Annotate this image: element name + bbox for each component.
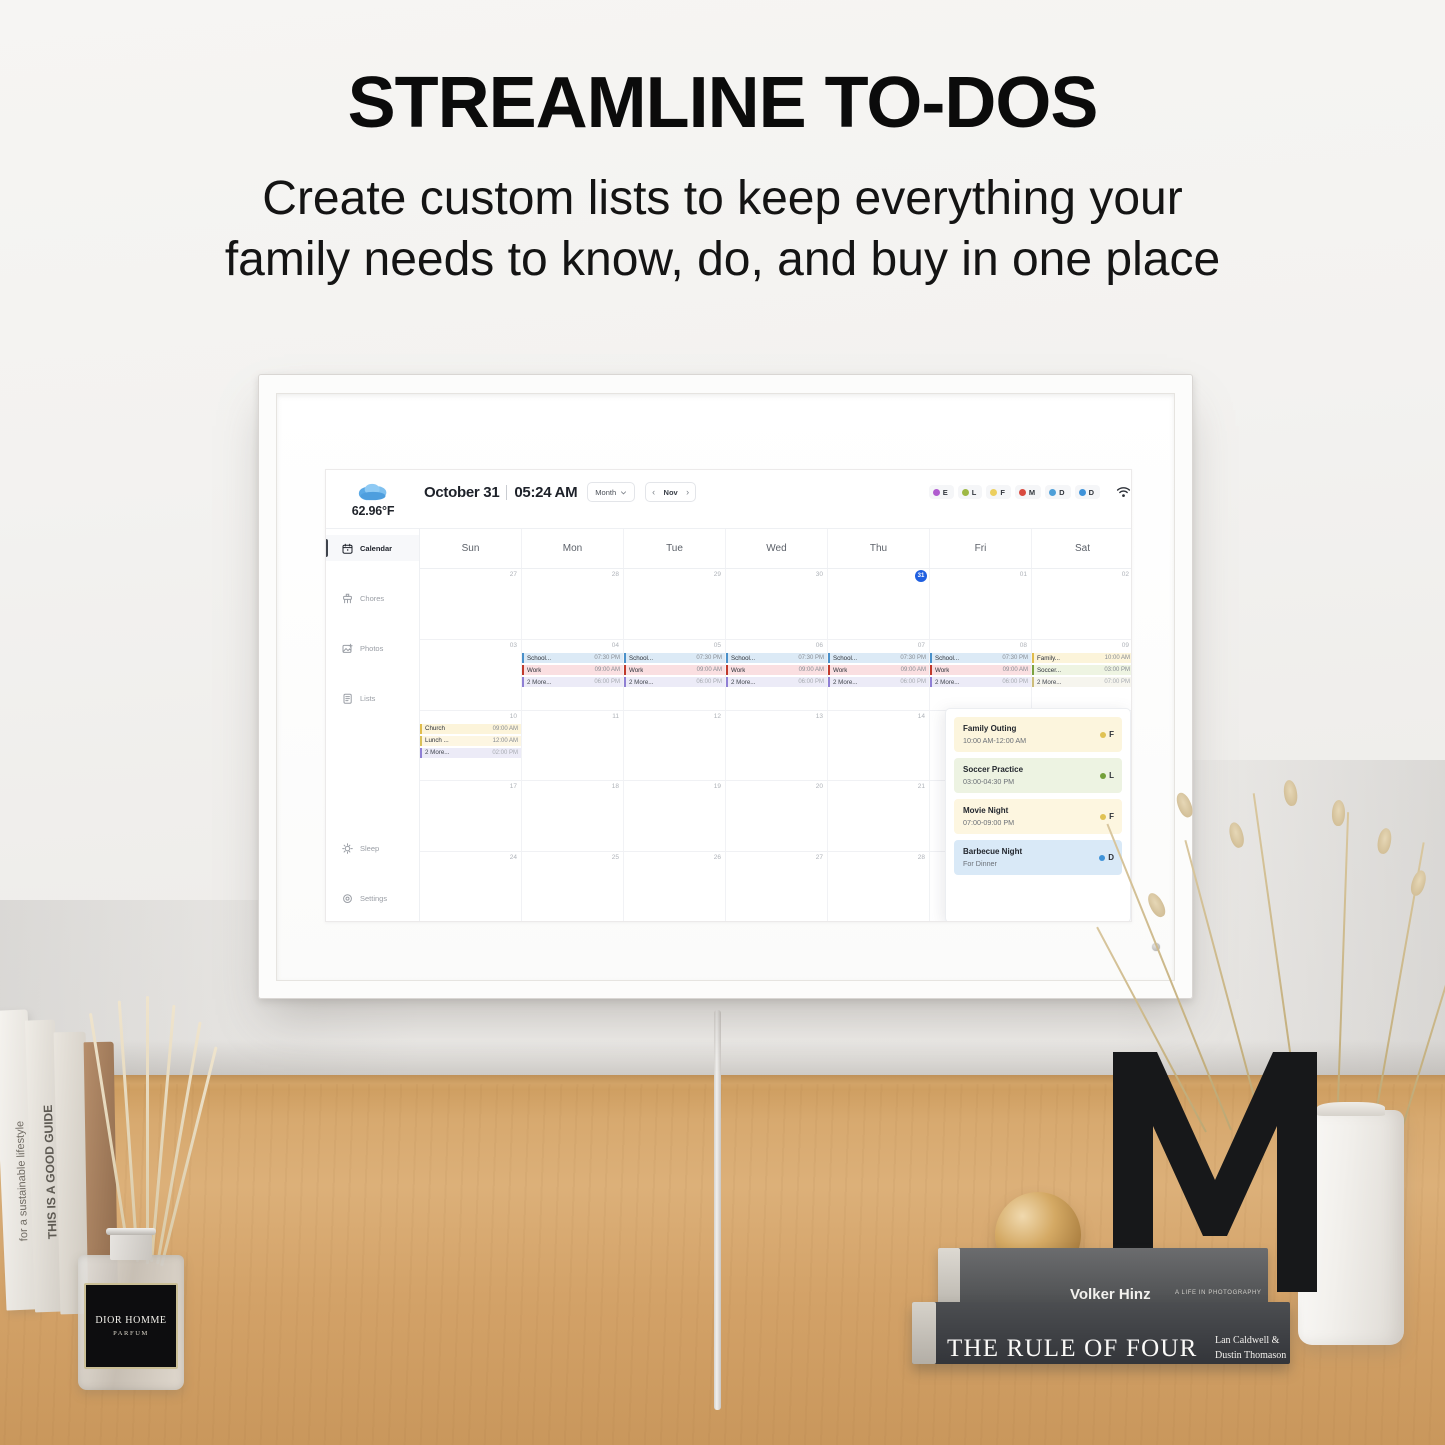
member-chip-f-2[interactable]: F <box>986 485 1011 499</box>
day-number: 21 <box>918 783 925 790</box>
sidebar-item-label: Photos <box>360 644 383 653</box>
day-number: 28 <box>612 571 619 578</box>
subline-2: family needs to know, do, and buy in one… <box>0 229 1445 290</box>
calendar-day-cell[interactable]: 03 <box>420 640 522 710</box>
event-time: 12:00 AM <box>493 738 518 744</box>
event-title: Work <box>726 667 745 674</box>
marketing-subheadline: Create custom lists to keep everything y… <box>0 168 1445 291</box>
current-month-label: Nov <box>662 488 679 497</box>
popup-event-time: For Dinner <box>963 859 1022 868</box>
more-events-link[interactable]: 2 More...06:00 PM <box>522 677 623 688</box>
reed-stick <box>146 996 149 1264</box>
book-volker-hinz-subtitle: A LIFE IN PHOTOGRAPHY <box>1175 1290 1262 1296</box>
book-rule-of-four-author-1: Lan Caldwell & <box>1215 1335 1279 1346</box>
day-number: 19 <box>714 783 721 790</box>
member-initial: F <box>1109 730 1114 739</box>
prev-month-button[interactable]: ‹ <box>652 488 655 497</box>
event-time: 09:00 AM <box>595 667 620 673</box>
member-initial: F <box>1109 812 1114 821</box>
book-rule-of-four-title: THE RULE OF FOUR <box>947 1335 1197 1363</box>
day-header-fri: Fri <box>930 529 1032 568</box>
book-pages-edge <box>938 1248 960 1304</box>
app-sidebar: CalendarChoresPhotosListsSleepSettings <box>326 529 420 922</box>
event-time: 06:00 PM <box>900 679 926 685</box>
day-header-sun: Sun <box>420 529 522 568</box>
next-month-button[interactable]: › <box>686 488 689 497</box>
sleep-icon <box>342 843 353 854</box>
day-header-sat: Sat <box>1032 529 1132 568</box>
calendar-day-cell[interactable]: 27 <box>726 852 828 922</box>
popup-event-item[interactable]: Family Outing10:00 AM-12:00 AMF <box>954 717 1122 752</box>
view-selector-label: Month <box>595 488 616 497</box>
popup-event-title: Family Outing <box>963 724 1026 733</box>
sidebar-item-label: Chores <box>360 594 384 603</box>
settings-icon <box>342 893 353 904</box>
calendar-day-cell[interactable]: 28 <box>828 852 930 922</box>
day-number: 18 <box>612 783 619 790</box>
event-title: 2 More... <box>522 679 551 686</box>
calendar-day-cell[interactable]: 17 <box>420 781 522 851</box>
date-time-block: October 31 05:24 AM <box>424 484 577 501</box>
event-color-bar <box>1032 665 1034 676</box>
more-events-link[interactable]: 2 More...02:00 PM <box>420 748 521 759</box>
event-title: School... <box>930 655 959 662</box>
calendar-day-cell[interactable]: 31 <box>828 569 930 639</box>
calendar-day-cell[interactable]: 12 <box>624 711 726 781</box>
event-title: Work <box>522 667 541 674</box>
event-color-bar <box>828 653 830 664</box>
event-title: Work <box>828 667 847 674</box>
popup-event-member: D <box>1099 853 1114 862</box>
member-initial: D <box>1089 488 1094 497</box>
day-number: 25 <box>612 854 619 861</box>
event-color-bar <box>726 677 728 688</box>
weather-widget[interactable]: 62.96°F <box>326 470 420 529</box>
temperature-value: 62.96°F <box>352 504 395 518</box>
event-title: 2 More... <box>726 679 755 686</box>
calendar-event[interactable]: Work09:00 AM <box>726 665 827 676</box>
popup-event-text: Barbecue NightFor Dinner <box>963 847 1022 868</box>
calendar-day-cell[interactable]: 27 <box>420 569 522 639</box>
sidebar-item-label: Lists <box>360 694 375 703</box>
sidebar-item-sleep[interactable]: Sleep <box>326 835 419 861</box>
calendar-event[interactable]: Work09:00 AM <box>930 665 1031 676</box>
calendar-day-cell[interactable]: 13 <box>726 711 828 781</box>
diffuser-subtitle: PARFUM <box>113 1330 149 1337</box>
calendar-day-cell[interactable]: 18 <box>522 781 624 851</box>
calendar-event[interactable]: Lunch ...12:00 AM <box>420 736 521 747</box>
day-number: 14 <box>918 713 925 720</box>
day-number: 10 <box>510 713 517 720</box>
member-initial: F <box>1000 488 1005 497</box>
popup-event-time: 10:00 AM-12:00 AM <box>963 736 1026 745</box>
sidebar-item-label: Settings <box>360 894 387 903</box>
power-cable <box>714 1010 721 1410</box>
event-color-bar <box>828 677 830 688</box>
event-title: Work <box>930 667 949 674</box>
day-number: 02 <box>1122 571 1129 578</box>
calendar-day-cell[interactable]: 04School...07:30 PMWork09:00 AM2 More...… <box>522 640 624 710</box>
event-color-bar <box>624 653 626 664</box>
diffuser-collar <box>106 1228 156 1235</box>
day-number: 12 <box>714 713 721 720</box>
calendar-day-cell[interactable]: 25 <box>522 852 624 922</box>
topbar-controls: October 31 05:24 AM Month ‹ Nov › ELFMDD <box>420 470 1132 514</box>
day-header-wed: Wed <box>726 529 828 568</box>
chores-icon <box>342 593 353 604</box>
event-color-bar <box>522 665 524 676</box>
event-color-bar <box>420 724 422 735</box>
event-time: 06:00 PM <box>696 679 722 685</box>
day-number: 07 <box>918 642 925 649</box>
event-details-popup: Family Outing10:00 AM-12:00 AMFSoccer Pr… <box>945 708 1131 922</box>
popup-event-time: 03:00-04:30 PM <box>963 777 1023 786</box>
member-chip-d-5[interactable]: D <box>1075 485 1100 499</box>
member-chip-m-3[interactable]: M <box>1015 485 1041 499</box>
sidebar-item-chores[interactable]: Chores <box>326 585 419 611</box>
today-date-badge: 31 <box>915 570 927 582</box>
event-title: 2 More... <box>624 679 653 686</box>
day-number: 01 <box>1020 571 1027 578</box>
calendar-day-cell[interactable]: 28 <box>522 569 624 639</box>
event-title: Soccer... <box>1032 667 1061 674</box>
diffuser-label: DIOR HOMME PARFUM <box>84 1283 178 1369</box>
member-color-dot <box>1019 489 1026 496</box>
event-color-bar <box>1032 653 1034 664</box>
calendar-day-cell[interactable]: 06School...07:30 PMWork09:00 AM2 More...… <box>726 640 828 710</box>
day-number: 26 <box>714 854 721 861</box>
book-volker-hinz-title: Volker Hinz <box>1070 1286 1151 1303</box>
member-chip-d-4[interactable]: D <box>1045 485 1070 499</box>
sidebar-item-lists[interactable]: Lists <box>326 685 419 711</box>
event-title: 2 More... <box>1032 679 1061 686</box>
event-title: Family... <box>1032 655 1060 662</box>
calendar-day-cell[interactable]: 14 <box>828 711 930 781</box>
calendar-day-cell[interactable]: 09Family...10:00 AMSoccer...03:00 PM2 Mo… <box>1032 640 1132 710</box>
calendar-day-cell[interactable]: 07School...07:30 PMWork09:00 AM2 More...… <box>828 640 930 710</box>
popup-event-title: Movie Night <box>963 806 1014 815</box>
member-color-dot <box>1100 732 1106 738</box>
calendar-event[interactable]: School...07:30 PM <box>828 653 929 664</box>
calendar-day-cell[interactable]: 08School...07:30 PMWork09:00 AM2 More...… <box>930 640 1032 710</box>
event-time: 07:30 PM <box>696 655 722 661</box>
divider <box>506 485 507 500</box>
member-chip-e-0[interactable]: E <box>929 485 954 499</box>
member-color-dot <box>1079 489 1086 496</box>
event-color-bar <box>726 653 728 664</box>
event-time: 07:30 PM <box>594 655 620 661</box>
event-time: 07:30 PM <box>1002 655 1028 661</box>
day-event-list: School...07:30 PMWork09:00 AM2 More...06… <box>828 653 929 688</box>
event-color-bar <box>624 677 626 688</box>
event-color-bar <box>930 665 932 676</box>
diffuser-neck <box>110 1232 152 1260</box>
calendar-day-cell[interactable]: 05School...07:30 PMWork09:00 AM2 More...… <box>624 640 726 710</box>
day-number: 20 <box>816 783 823 790</box>
event-time: 09:00 AM <box>901 667 926 673</box>
event-title: 2 More... <box>930 679 959 686</box>
sidebar-item-label: Sleep <box>360 844 379 853</box>
day-header-tue: Tue <box>624 529 726 568</box>
day-number: 05 <box>714 642 721 649</box>
event-time: 07:30 PM <box>900 655 926 661</box>
app-topbar: 62.96°F October 31 05:24 AM Month ‹ Nov … <box>326 470 1132 529</box>
event-title: Church <box>420 725 445 732</box>
popup-event-time: 07:00-09:00 PM <box>963 818 1014 827</box>
day-number: 29 <box>714 571 721 578</box>
event-time: 07:30 PM <box>798 655 824 661</box>
day-number: 13 <box>816 713 823 720</box>
member-chip-list: ELFMDD <box>929 485 1102 499</box>
lists-icon <box>342 693 353 704</box>
member-chip-l-1[interactable]: L <box>958 485 983 499</box>
event-title: School... <box>624 655 653 662</box>
event-color-bar <box>930 677 932 688</box>
calendar-event[interactable]: Work09:00 AM <box>522 665 623 676</box>
member-initial: E <box>943 488 948 497</box>
day-number: 27 <box>816 854 823 861</box>
event-title: Work <box>624 667 643 674</box>
photos-icon <box>342 643 353 654</box>
calendar-day-cell[interactable]: 01 <box>930 569 1032 639</box>
more-events-link[interactable]: 2 More...06:00 PM <box>930 677 1031 688</box>
headline-text: STREAMLINE TO-DOS <box>0 62 1445 144</box>
event-color-bar <box>420 748 422 759</box>
calendar-event[interactable]: Work09:00 AM <box>828 665 929 676</box>
popup-event-member: F <box>1100 812 1114 821</box>
calendar-day-cell[interactable]: 21 <box>828 781 930 851</box>
calendar-day-cell[interactable]: 02 <box>1032 569 1132 639</box>
member-color-dot <box>990 489 997 496</box>
more-events-link[interactable]: 2 More...06:00 PM <box>624 677 725 688</box>
calendar-day-cell[interactable]: 20 <box>726 781 828 851</box>
day-event-list: School...07:30 PMWork09:00 AM2 More...06… <box>522 653 623 688</box>
calendar-event[interactable]: School...07:30 PM <box>930 653 1031 664</box>
sidebar-item-calendar[interactable]: Calendar <box>326 535 419 561</box>
calendar-event[interactable]: Family...10:00 AM <box>1032 653 1132 664</box>
event-title: School... <box>726 655 755 662</box>
popup-event-member: L <box>1100 771 1114 780</box>
member-initial: M <box>1029 488 1035 497</box>
day-event-list: School...07:30 PMWork09:00 AM2 More...06… <box>624 653 725 688</box>
day-event-list: School...07:30 PMWork09:00 AM2 More...06… <box>930 653 1031 688</box>
event-time: 02:00 PM <box>492 750 518 756</box>
book-rule-of-four-author-2: Dustin Thomason <box>1215 1350 1286 1361</box>
event-title: School... <box>828 655 857 662</box>
popup-event-text: Movie Night07:00-09:00 PM <box>963 806 1014 827</box>
sidebar-item-settings[interactable]: Settings <box>326 885 419 911</box>
calendar-event[interactable]: Soccer...03:00 PM <box>1032 665 1132 676</box>
member-color-dot <box>1100 773 1106 779</box>
event-color-bar <box>1032 677 1034 688</box>
day-header-mon: Mon <box>522 529 624 568</box>
member-initial: L <box>972 488 977 497</box>
calendar-icon <box>342 543 353 554</box>
day-number: 03 <box>510 642 517 649</box>
current-time: 05:24 AM <box>514 484 577 501</box>
vase-lip <box>1317 1102 1385 1116</box>
member-initial: L <box>1109 771 1114 780</box>
day-number: 09 <box>1122 642 1129 649</box>
member-color-dot <box>962 489 969 496</box>
calendar-event[interactable]: School...07:30 PM <box>726 653 827 664</box>
day-number: 11 <box>612 713 619 720</box>
event-time: 06:00 PM <box>1002 679 1028 685</box>
event-time: 09:00 AM <box>799 667 824 673</box>
event-title: 2 More... <box>420 749 449 756</box>
more-events-link[interactable]: 2 More...06:00 PM <box>726 677 827 688</box>
day-event-list: Family...10:00 AMSoccer...03:00 PM2 More… <box>1032 653 1132 688</box>
sidebar-item-photos[interactable]: Photos <box>326 635 419 661</box>
popup-event-item[interactable]: Barbecue NightFor DinnerD <box>954 840 1122 875</box>
day-of-week-header: SunMonTueWedThuFriSat <box>420 529 1132 569</box>
chevron-down-icon <box>620 489 627 496</box>
event-color-bar <box>624 665 626 676</box>
calendar-day-cell[interactable]: 10Church09:00 AMLunch ...12:00 AM2 More.… <box>420 711 522 781</box>
event-title: 2 More... <box>828 679 857 686</box>
member-initial: D <box>1108 853 1114 862</box>
calendar-week-row: 0304School...07:30 PMWork09:00 AM2 More.… <box>420 640 1132 711</box>
calendar-app-screen: 62.96°F October 31 05:24 AM Month ‹ Nov … <box>325 469 1132 922</box>
event-color-bar <box>828 665 830 676</box>
member-color-dot <box>1099 855 1105 861</box>
calendar-event[interactable]: School...07:30 PM <box>624 653 725 664</box>
subline-1: Create custom lists to keep everything y… <box>0 168 1445 229</box>
calendar-event[interactable]: Church09:00 AM <box>420 724 521 735</box>
more-events-link[interactable]: 2 More...06:00 PM <box>828 677 929 688</box>
month-navigator[interactable]: ‹ Nov › <box>645 482 696 502</box>
calendar-week-row: 27282930310102 <box>420 569 1132 640</box>
event-time: 03:00 PM <box>1104 667 1130 673</box>
day-number: 24 <box>510 854 517 861</box>
calendar-day-cell[interactable]: 24 <box>420 852 522 922</box>
day-event-list: Church09:00 AMLunch ...12:00 AM2 More...… <box>420 724 521 759</box>
day-number: 28 <box>918 854 925 861</box>
event-time: 09:00 AM <box>493 726 518 732</box>
view-selector[interactable]: Month <box>587 482 635 502</box>
popup-event-item[interactable]: Movie Night07:00-09:00 PMF <box>954 799 1122 834</box>
event-time: 07:00 PM <box>1104 679 1130 685</box>
more-events-link[interactable]: 2 More...07:00 PM <box>1032 677 1132 688</box>
day-number: 04 <box>612 642 619 649</box>
event-color-bar <box>726 665 728 676</box>
current-date: October 31 <box>424 484 499 501</box>
member-color-dot <box>1049 489 1056 496</box>
calendar-day-cell[interactable]: 11 <box>522 711 624 781</box>
sidebar-item-label: Calendar <box>360 544 392 553</box>
book-pages-edge <box>912 1302 936 1364</box>
day-number: 06 <box>816 642 823 649</box>
popup-event-member: F <box>1100 730 1114 739</box>
marketing-headline: STREAMLINE TO-DOS <box>0 62 1445 144</box>
event-color-bar <box>522 677 524 688</box>
calendar-day-cell[interactable]: 19 <box>624 781 726 851</box>
popup-event-title: Barbecue Night <box>963 847 1022 856</box>
event-time: 10:00 AM <box>1105 655 1130 661</box>
popup-event-item[interactable]: Soccer Practice03:00-04:30 PML <box>954 758 1122 793</box>
event-time: 06:00 PM <box>798 679 824 685</box>
day-number: 17 <box>510 783 517 790</box>
popup-event-text: Soccer Practice03:00-04:30 PM <box>963 765 1023 786</box>
event-time: 06:00 PM <box>594 679 620 685</box>
event-title: School... <box>522 655 551 662</box>
event-time: 09:00 AM <box>1003 667 1028 673</box>
calendar-event[interactable]: School...07:30 PM <box>522 653 623 664</box>
calendar-day-cell[interactable]: 26 <box>624 852 726 922</box>
day-header-thu: Thu <box>828 529 930 568</box>
member-initial: D <box>1059 488 1064 497</box>
calendar-event[interactable]: Work09:00 AM <box>624 665 725 676</box>
member-color-dot <box>933 489 940 496</box>
event-color-bar <box>420 736 422 747</box>
event-time: 09:00 AM <box>697 667 722 673</box>
calendar-day-cell[interactable]: 29 <box>624 569 726 639</box>
day-number: 27 <box>510 571 517 578</box>
day-number: 30 <box>816 571 823 578</box>
event-color-bar <box>930 653 932 664</box>
event-color-bar <box>522 653 524 664</box>
cloud-icon <box>356 481 390 501</box>
diffuser-brand: DIOR HOMME <box>95 1315 166 1326</box>
popup-event-text: Family Outing10:00 AM-12:00 AM <box>963 724 1026 745</box>
day-number: 08 <box>1020 642 1027 649</box>
member-color-dot <box>1100 814 1106 820</box>
wifi-icon[interactable] <box>1116 486 1131 498</box>
day-event-list: School...07:30 PMWork09:00 AM2 More...06… <box>726 653 827 688</box>
popup-event-title: Soccer Practice <box>963 765 1023 774</box>
calendar-day-cell[interactable]: 30 <box>726 569 828 639</box>
event-title: Lunch ... <box>420 737 449 744</box>
